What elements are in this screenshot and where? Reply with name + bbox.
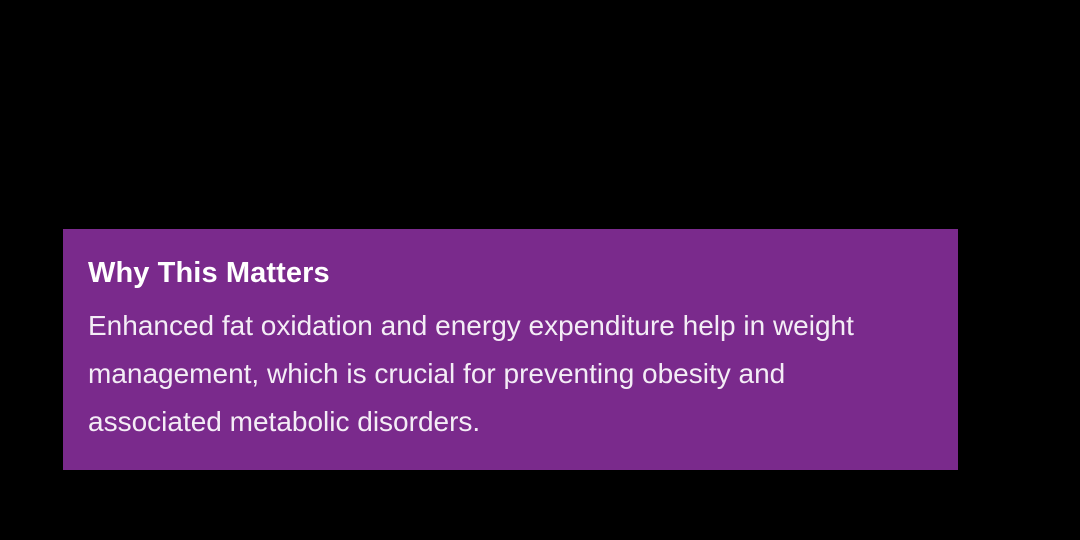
callout-title: Why This Matters (88, 253, 910, 293)
why-this-matters-callout: Why This Matters Enhanced fat oxidation … (63, 229, 958, 470)
slide-background: Why This Matters Enhanced fat oxidation … (0, 0, 1080, 540)
callout-body-text: Enhanced fat oxidation and energy expend… (88, 302, 910, 446)
